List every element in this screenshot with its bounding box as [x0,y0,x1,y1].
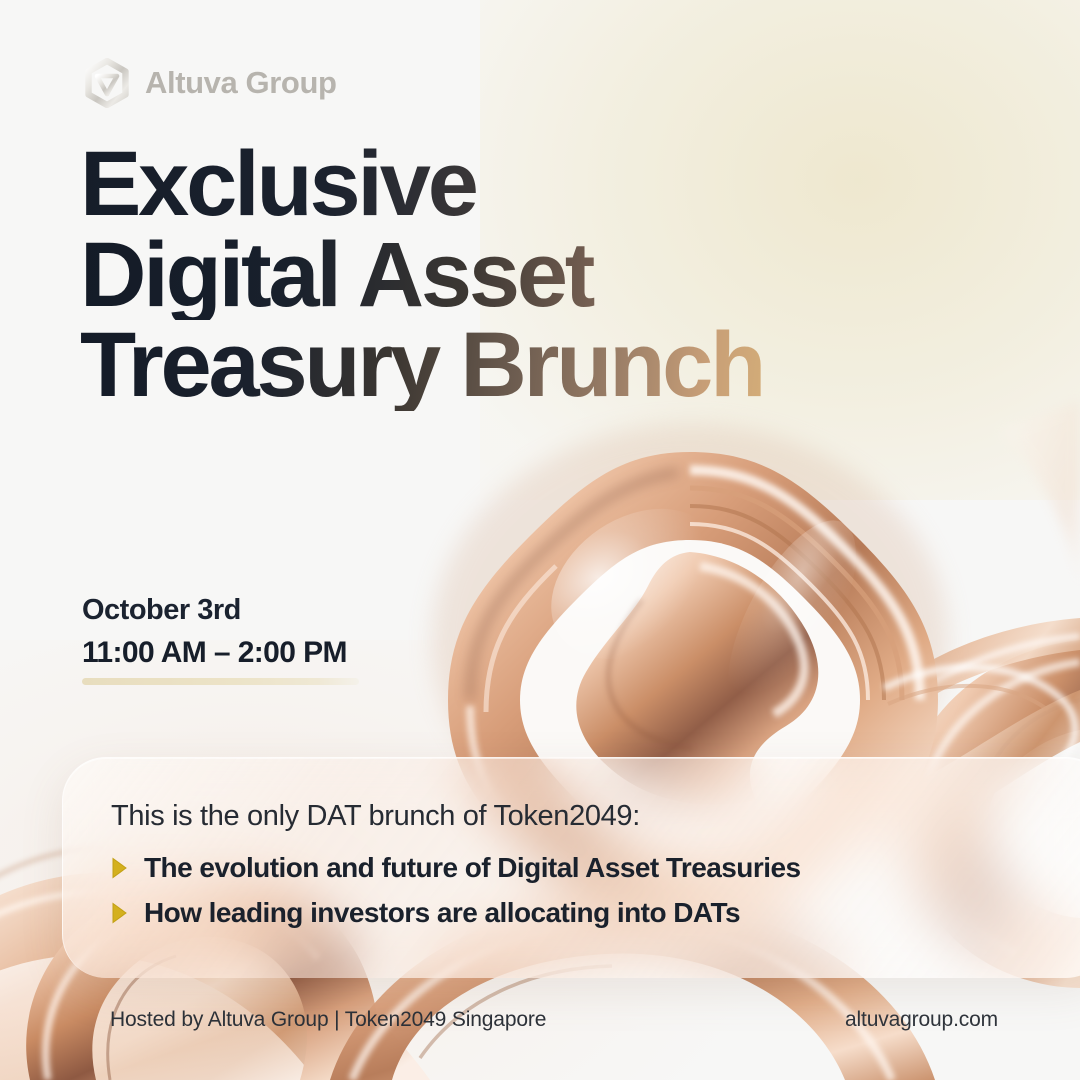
agenda-card-content: This is the only DAT brunch of Token2049… [63,758,1080,929]
arrow-right-triangle-icon [111,902,128,924]
event-date: October 3rd [82,594,359,627]
arrow-right-triangle-icon [111,857,128,879]
footer-website[interactable]: altuvagroup.com [845,1008,998,1032]
list-item: How leading investors are allocating int… [111,897,1080,929]
list-item-label: How leading investors are allocating int… [144,897,740,929]
footer-hosted-by: Hosted by Altuva Group | Token2049 Singa… [110,1008,546,1032]
list-item-label: The evolution and future of Digital Asse… [144,852,801,884]
agenda-bullet-list: The evolution and future of Digital Asse… [111,852,1080,929]
hexagon-chevron-logo-icon [82,58,132,108]
brand-logo[interactable]: Altuva Group [82,58,337,108]
page-title: Exclusive Digital Asset Treasury Brunch [80,139,1040,411]
datetime-underline-rule [82,678,359,685]
poster-canvas: Altuva Group Exclusive Digital Asset Tre… [0,0,1080,1080]
brand-name: Altuva Group [145,65,337,101]
list-item: The evolution and future of Digital Asse… [111,852,1080,884]
headline-line-2: Digital Asset [80,230,1040,321]
agenda-lede: This is the only DAT brunch of Token2049… [111,800,1080,833]
headline-line-3: Treasury Brunch [80,320,1040,411]
event-datetime-block: October 3rd 11:00 AM – 2:00 PM [82,594,359,685]
agenda-glass-card: This is the only DAT brunch of Token2049… [62,757,1080,978]
headline-line-1: Exclusive [80,139,1040,230]
event-time: 11:00 AM – 2:00 PM [82,636,359,670]
